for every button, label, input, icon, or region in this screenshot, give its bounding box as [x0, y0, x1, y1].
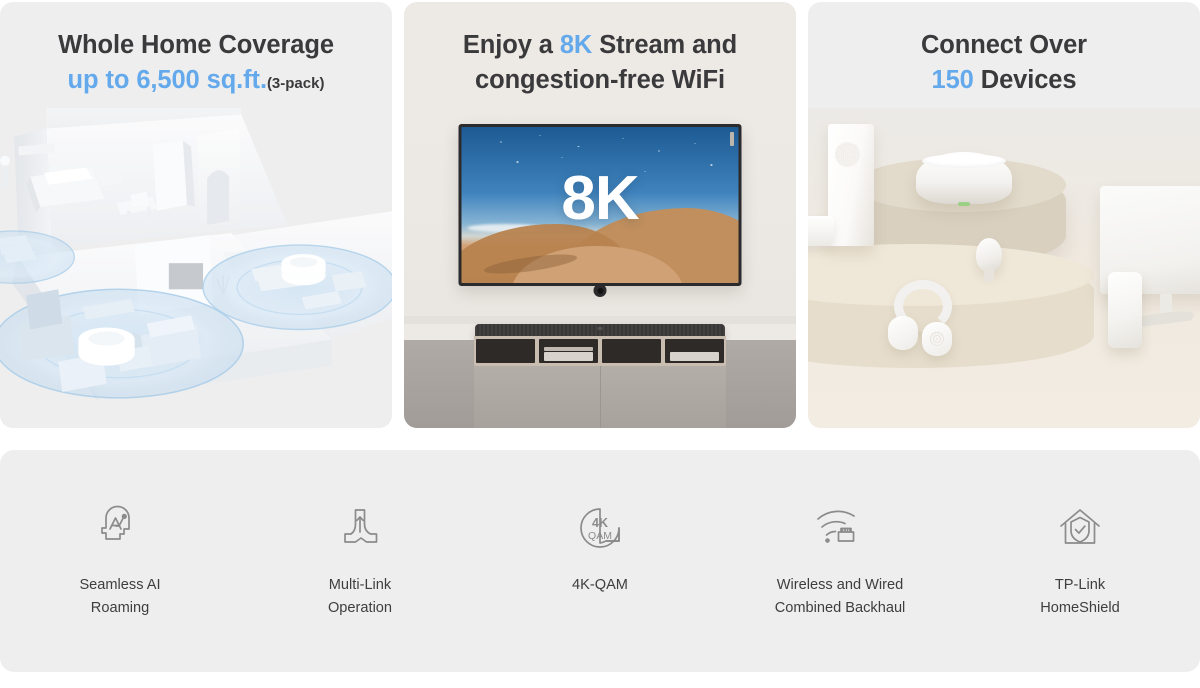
feature-multi-link-operation: Multi-Link Operation — [240, 500, 480, 619]
isometric-floorplan-illustration — [0, 108, 392, 428]
card-3-heading: Connect Over 150 Devices — [808, 2, 1200, 98]
console-shelf-row — [474, 336, 726, 366]
card-1-heading: Whole Home Coverage up to 6,500 sq.ft.(3… — [0, 2, 392, 98]
icon-text-qam: QAM — [588, 530, 612, 542]
feature-label-line1: 4K-QAM — [572, 574, 628, 597]
card-2-title-pre: Enjoy a — [463, 31, 560, 59]
card-1-artwork — [0, 108, 392, 428]
wifi-ethernet-icon — [812, 500, 868, 556]
handheld-console-device — [808, 216, 834, 246]
console-drawer — [474, 366, 601, 428]
feature-label-line1: Wireless and Wired — [775, 574, 906, 597]
feature-4k-qam: 4K QAM 4K-QAM — [480, 500, 720, 597]
smart-bulb-device — [976, 238, 1002, 272]
tv-wall-bracket — [730, 132, 734, 146]
card-1-pack-note: (3-pack) — [267, 75, 325, 92]
wall-floor-line — [404, 316, 796, 324]
product-feature-page: Whole Home Coverage up to 6,500 sq.ft.(3… — [0, 0, 1200, 688]
feature-label-line2: Combined Backhaul — [775, 597, 906, 620]
4k-qam-icon: 4K QAM — [572, 500, 628, 556]
card-1-title-line1: Whole Home Coverage — [0, 28, 392, 63]
feature-label-line1: Multi-Link — [328, 574, 392, 597]
card-3-title-line2: 150 Devices — [808, 63, 1200, 98]
card-2-title-line1: Enjoy a 8K Stream and — [404, 28, 796, 63]
cabinet-left-extension — [404, 340, 476, 428]
card-1-coverage-value: up to 6,500 sq.ft. — [68, 66, 267, 94]
shelf-compartment — [602, 339, 661, 363]
feature-label: Seamless AI Roaming — [79, 574, 160, 619]
console-drawer — [601, 366, 727, 428]
cabinet-right-extension — [724, 340, 796, 428]
tv-camera — [594, 284, 607, 297]
card-whole-home-coverage: Whole Home Coverage up to 6,500 sq.ft.(3… — [0, 2, 392, 428]
tv-screen-label: 8K — [462, 168, 739, 230]
feature-highlights-strip: Seamless AI Roaming Multi-Link Operation — [0, 450, 1200, 672]
feature-seamless-ai-roaming: Seamless AI Roaming — [0, 500, 240, 619]
card-2-artwork: 8K — [404, 108, 796, 428]
tv-scene: 8K — [404, 108, 796, 428]
card-3-title-line1: Connect Over — [808, 28, 1200, 63]
feature-label: 4K-QAM — [572, 574, 628, 597]
feature-label-line2: Operation — [328, 597, 392, 620]
television: 8K — [459, 124, 742, 286]
shelf-compartment — [665, 339, 724, 363]
card-3-title-post: Devices — [974, 66, 1077, 94]
feature-label: Wireless and Wired Combined Backhaul — [775, 574, 906, 619]
feature-combined-backhaul: Wireless and Wired Combined Backhaul — [720, 500, 960, 619]
router-status-led — [958, 202, 970, 206]
icon-text-4k: 4K — [592, 516, 608, 530]
card-3-device-count: 150 — [932, 66, 974, 94]
feature-label-line1: TP-Link — [1040, 574, 1120, 597]
feature-label: Multi-Link Operation — [328, 574, 392, 619]
shelf-compartment — [476, 339, 535, 363]
card-2-title-line2: congestion-free WiFi — [404, 63, 796, 98]
feature-label-line2: Roaming — [79, 597, 160, 620]
card-2-resolution-value: 8K — [560, 31, 592, 59]
headphones-device — [888, 280, 958, 358]
multi-link-icon — [332, 500, 388, 556]
shelf-device — [670, 352, 720, 361]
device-showcase — [808, 108, 1200, 428]
game-console-device — [828, 124, 874, 246]
card-8k-stream: Enjoy a 8K Stream and congestion-free Wi… — [404, 2, 796, 428]
mesh-router-device — [916, 152, 1012, 204]
card-connect-devices: Connect Over 150 Devices — [808, 2, 1200, 428]
console-drawers — [474, 366, 726, 428]
feature-cards-row: Whole Home Coverage up to 6,500 sq.ft.(3… — [0, 2, 1200, 428]
card-2-heading: Enjoy a 8K Stream and congestion-free Wi… — [404, 2, 796, 98]
media-console — [474, 336, 726, 428]
card-3-artwork — [808, 108, 1200, 428]
card-2-title-post: Stream and — [592, 31, 737, 59]
shelf-device — [544, 347, 594, 351]
feature-label-line1: Seamless AI — [79, 574, 160, 597]
headphone-earcup — [888, 316, 918, 350]
feature-label: TP-Link HomeShield — [1040, 574, 1120, 619]
feature-label-line2: HomeShield — [1040, 597, 1120, 620]
shelf-compartment — [539, 339, 598, 363]
shelf-device — [544, 352, 594, 361]
headphone-earcup — [922, 322, 952, 356]
card-1-title-line2: up to 6,500 sq.ft.(3-pack) — [0, 63, 392, 98]
smartphone-device — [1108, 272, 1142, 348]
home-shield-icon — [1052, 500, 1108, 556]
tv-screen: 8K — [462, 127, 739, 283]
feature-tp-link-homeshield: TP-Link HomeShield — [960, 500, 1200, 619]
ai-head-icon — [92, 500, 148, 556]
